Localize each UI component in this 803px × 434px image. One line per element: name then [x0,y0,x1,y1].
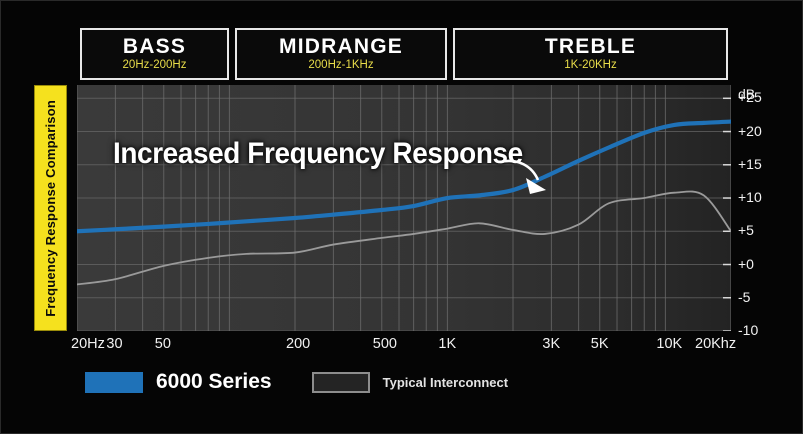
y-tick-plus20: +20 [738,124,762,138]
x-tick-3k: 3K [542,337,560,352]
plot-area [77,85,731,331]
band-header-treble: TREBLE 1K-20KHz [453,28,728,80]
chart-svg [77,85,731,331]
x-tick-5k: 5K [591,337,609,352]
y-tick-plus0: +0 [738,257,754,271]
x-tick-20hz: 20Hz [71,337,105,352]
side-title-text: Frequency Response Comparison [43,100,58,317]
y-tick-plus15: +15 [738,157,762,171]
band-range-bass: 20Hz-200Hz [123,60,187,72]
x-tick-30: 30 [106,337,122,352]
legend-label-typical-interconnect: Typical Interconnect [383,375,508,390]
y-tick-plus10: +10 [738,190,762,204]
y-tick-plus25: +25 [738,90,762,104]
x-tick-10k: 10K [656,337,682,352]
x-tick-20khz: 20Khz [695,337,736,352]
x-tick-200: 200 [286,337,310,352]
band-name-bass: BASS [123,36,186,57]
band-name-midrange: MIDRANGE [279,36,403,57]
chart-legend: 6000 Series Typical Interconnect [85,370,508,394]
y-tick-plus5: +5 [738,223,754,237]
band-header-midrange: MIDRANGE 200Hz-1KHz [235,28,447,80]
frequency-response-chart: BASS 20Hz-200Hz MIDRANGE 200Hz-1KHz TREB… [0,0,803,434]
legend-swatch-6000-series [85,372,143,393]
x-tick-1k: 1K [438,337,456,352]
legend-swatch-typical-interconnect [312,372,370,393]
x-tick-500: 500 [373,337,397,352]
band-name-treble: TREBLE [545,36,636,57]
band-range-midrange: 200Hz-1KHz [308,60,373,72]
band-header-bass: BASS 20Hz-200Hz [80,28,229,80]
band-range-treble: 1K-20KHz [564,60,616,72]
y-tick-minus5: -5 [738,290,750,304]
y-tick-minus10: -10 [738,323,758,337]
side-title-bar: Frequency Response Comparison [34,85,67,331]
legend-label-6000-series: 6000 Series [156,370,272,394]
annotation-text: Increased Frequency Response [113,139,523,169]
annotation-arrow-icon [498,156,550,196]
x-tick-50: 50 [155,337,171,352]
